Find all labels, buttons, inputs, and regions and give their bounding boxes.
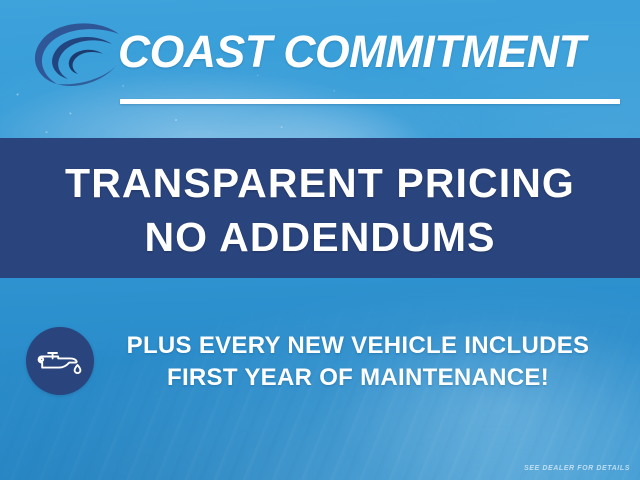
title-divider xyxy=(120,99,620,104)
banner-header: COAST COMMITMENT xyxy=(0,0,640,138)
coast-commitment-banner: COAST COMMITMENT TRANSPARENT PRICING NO … xyxy=(0,0,640,480)
page-title: COAST COMMITMENT xyxy=(118,20,623,84)
oil-can-icon xyxy=(26,327,94,395)
maintenance-promo: PLUS EVERY NEW VEHICLE INCLUDES FIRST YE… xyxy=(0,300,640,410)
disclaimer-text: SEE DEALER FOR DETAILS xyxy=(524,465,630,472)
promo-line-1: PLUS EVERY NEW VEHICLE INCLUDES xyxy=(108,330,608,362)
promo-line-2: FIRST YEAR OF MAINTENANCE! xyxy=(108,362,608,394)
headline-line-2: NO ADDENDUMS xyxy=(0,213,640,261)
headline-line-1: TRANSPARENT PRICING xyxy=(0,159,640,207)
headline-band: TRANSPARENT PRICING NO ADDENDUMS xyxy=(0,138,640,278)
